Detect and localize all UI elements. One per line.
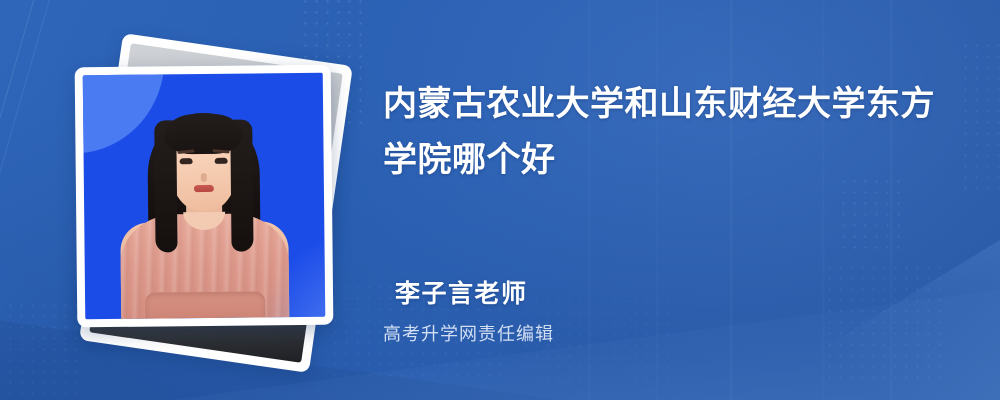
author-photo	[83, 73, 326, 319]
author-photo-card	[75, 65, 334, 328]
banner-title: 内蒙古农业大学和山东财经大学东方学院哪个好	[383, 76, 961, 188]
portrait-lips	[194, 185, 214, 192]
portrait-garment-waist	[145, 291, 265, 318]
banner-text-column: 内蒙古农业大学和山东财经大学东方学院哪个好 李子言老师 高考升学网责任编辑	[383, 0, 983, 400]
portrait-eye-left	[180, 158, 193, 164]
portrait-nose	[201, 173, 207, 182]
promo-banner: 内蒙古农业大学和山东财经大学东方学院哪个好 李子言老师 高考升学网责任编辑	[0, 0, 1000, 400]
photo-sheen-accent	[254, 232, 325, 319]
author-name: 李子言老师	[395, 274, 528, 310]
portrait-eyebrow-right	[212, 149, 229, 153]
author-role: 高考升学网责任编辑	[383, 320, 554, 346]
portrait-eye-right	[215, 158, 228, 164]
photo-stack	[46, 40, 366, 360]
portrait-hair-fringe	[164, 114, 242, 155]
